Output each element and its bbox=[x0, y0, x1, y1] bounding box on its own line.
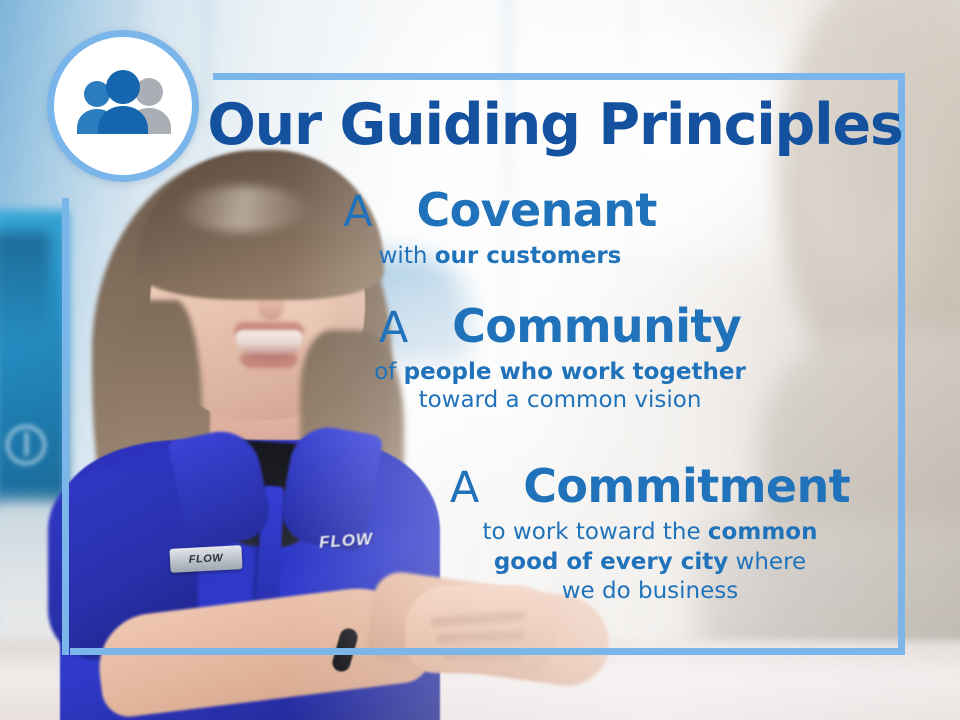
principle-community-word: Community bbox=[452, 299, 741, 353]
principle-covenant: A Covenant with our customers bbox=[300, 186, 700, 272]
principle-community-subtitle: of people who work togethertoward a comm… bbox=[340, 358, 780, 415]
principle-commitment-word: Commitment bbox=[523, 459, 850, 513]
text-layer: Our Guiding Principles A Covenant with o… bbox=[0, 0, 960, 720]
page-title: Our Guiding Principles bbox=[205, 96, 905, 154]
principle-covenant-word: Covenant bbox=[417, 183, 657, 237]
principle-community-title: A Community bbox=[340, 302, 780, 352]
principle-covenant-title: A Covenant bbox=[300, 186, 700, 236]
principle-commitment-title: A Commitment bbox=[420, 462, 880, 512]
principle-commitment-article: A bbox=[450, 463, 479, 513]
principle-community-article: A bbox=[379, 303, 408, 353]
principle-commitment: A Commitment to work toward the commongo… bbox=[420, 462, 880, 607]
principle-community: A Community of people who work togethert… bbox=[340, 302, 780, 415]
principle-covenant-subtitle: with our customers bbox=[300, 242, 700, 272]
guiding-principles-graphic: FLOW FLOW bbox=[0, 0, 960, 720]
principle-covenant-article: A bbox=[343, 187, 372, 237]
principle-commitment-subtitle: to work toward the commongood of every c… bbox=[420, 518, 880, 608]
